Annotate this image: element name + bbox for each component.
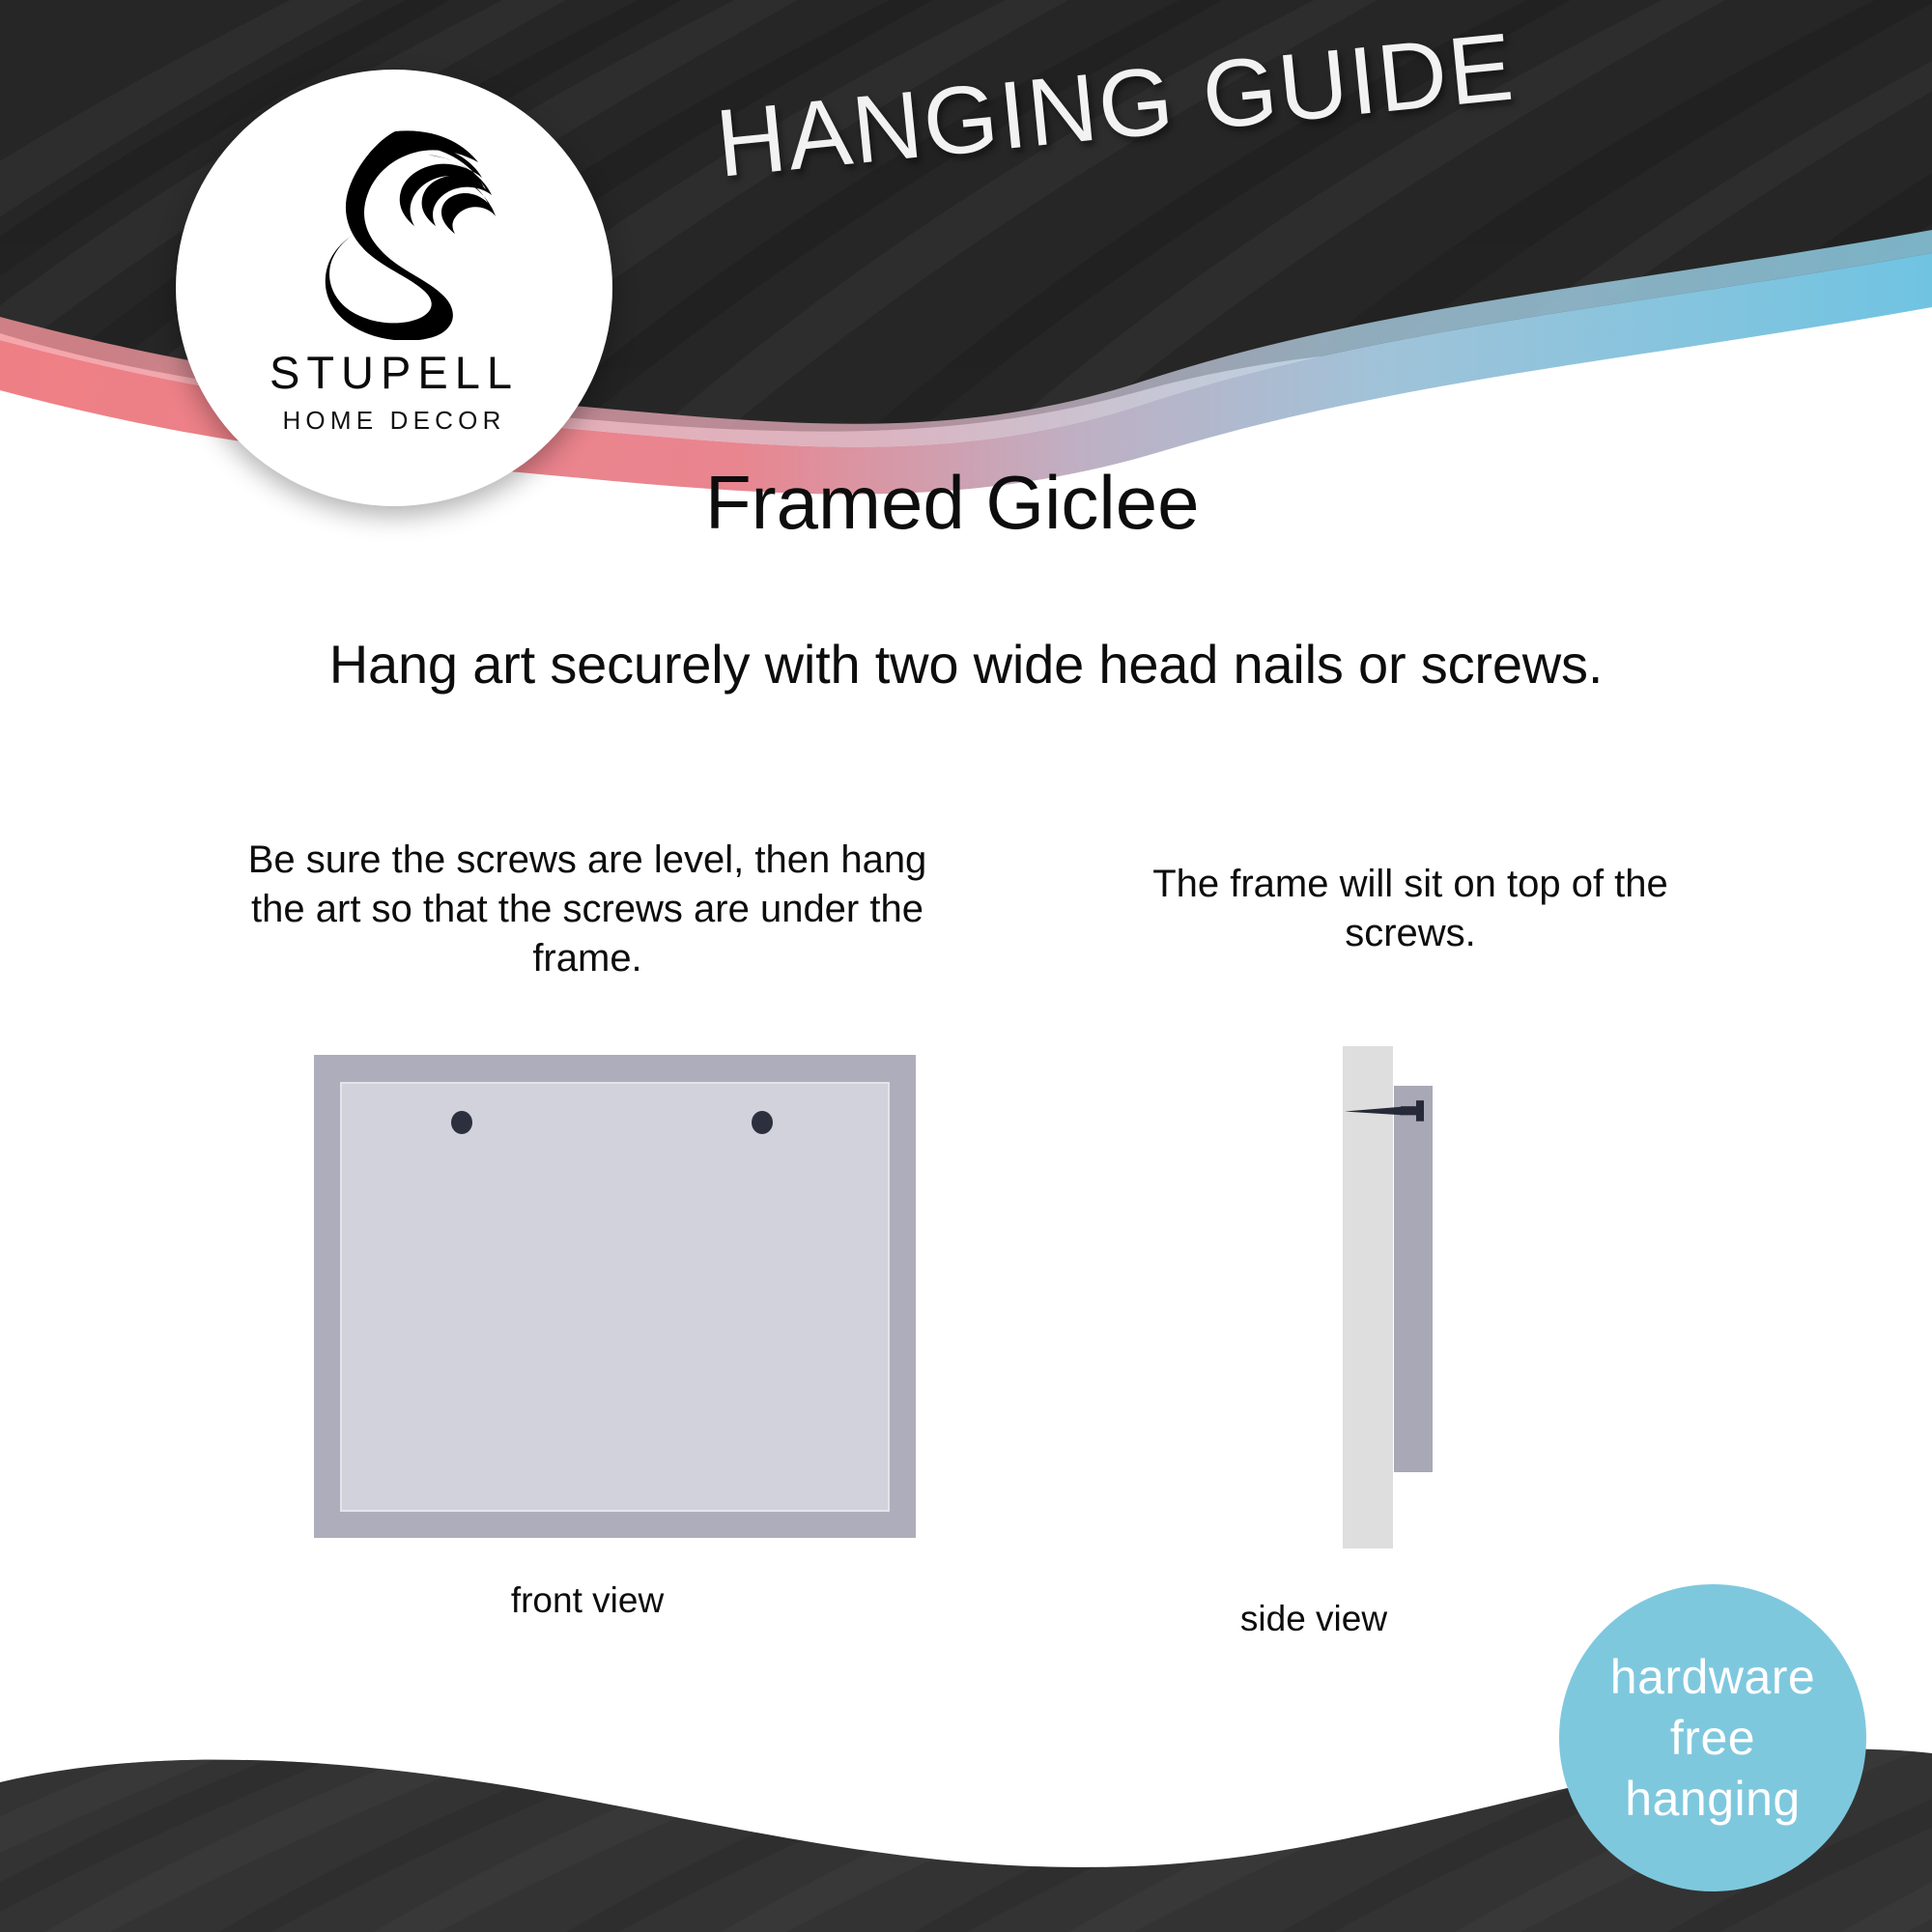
product-type-title: Framed Giclee: [705, 459, 1200, 547]
page-title: HANGING GUIDE: [711, 11, 1519, 198]
side-view-label: side view: [1053, 1599, 1575, 1639]
screw-hole-left-icon: [451, 1111, 472, 1134]
badge-line-1: hardware: [1610, 1647, 1815, 1708]
brand-logo-badge: STUPELL HOME DECOR: [176, 70, 612, 506]
front-view-mat: [340, 1082, 890, 1512]
front-view-diagram: [314, 1055, 916, 1538]
screw-hole-right-icon: [752, 1111, 773, 1134]
front-view-caption: Be sure the screws are level, then hang …: [240, 836, 935, 984]
logo-subwordmark: HOME DECOR: [282, 408, 505, 433]
badge-line-3: hanging: [1625, 1769, 1800, 1830]
logo-wordmark: STUPELL: [270, 350, 519, 395]
hardware-free-hanging-badge: hardware free hanging: [1559, 1584, 1866, 1891]
hanging-guide-page: STUPELL HOME DECOR HANGING GUIDE Framed …: [0, 0, 1932, 1932]
front-view-label: front view: [317, 1580, 858, 1621]
nail-icon: [1345, 1098, 1428, 1123]
side-view-frame: [1394, 1086, 1433, 1472]
lead-instruction: Hang art securely with two wide head nai…: [0, 633, 1932, 696]
badge-line-2: free: [1670, 1708, 1755, 1769]
side-view-caption: The frame will sit on top of the screws.: [1140, 860, 1681, 958]
stupell-swirl-logo-icon: [293, 120, 496, 340]
